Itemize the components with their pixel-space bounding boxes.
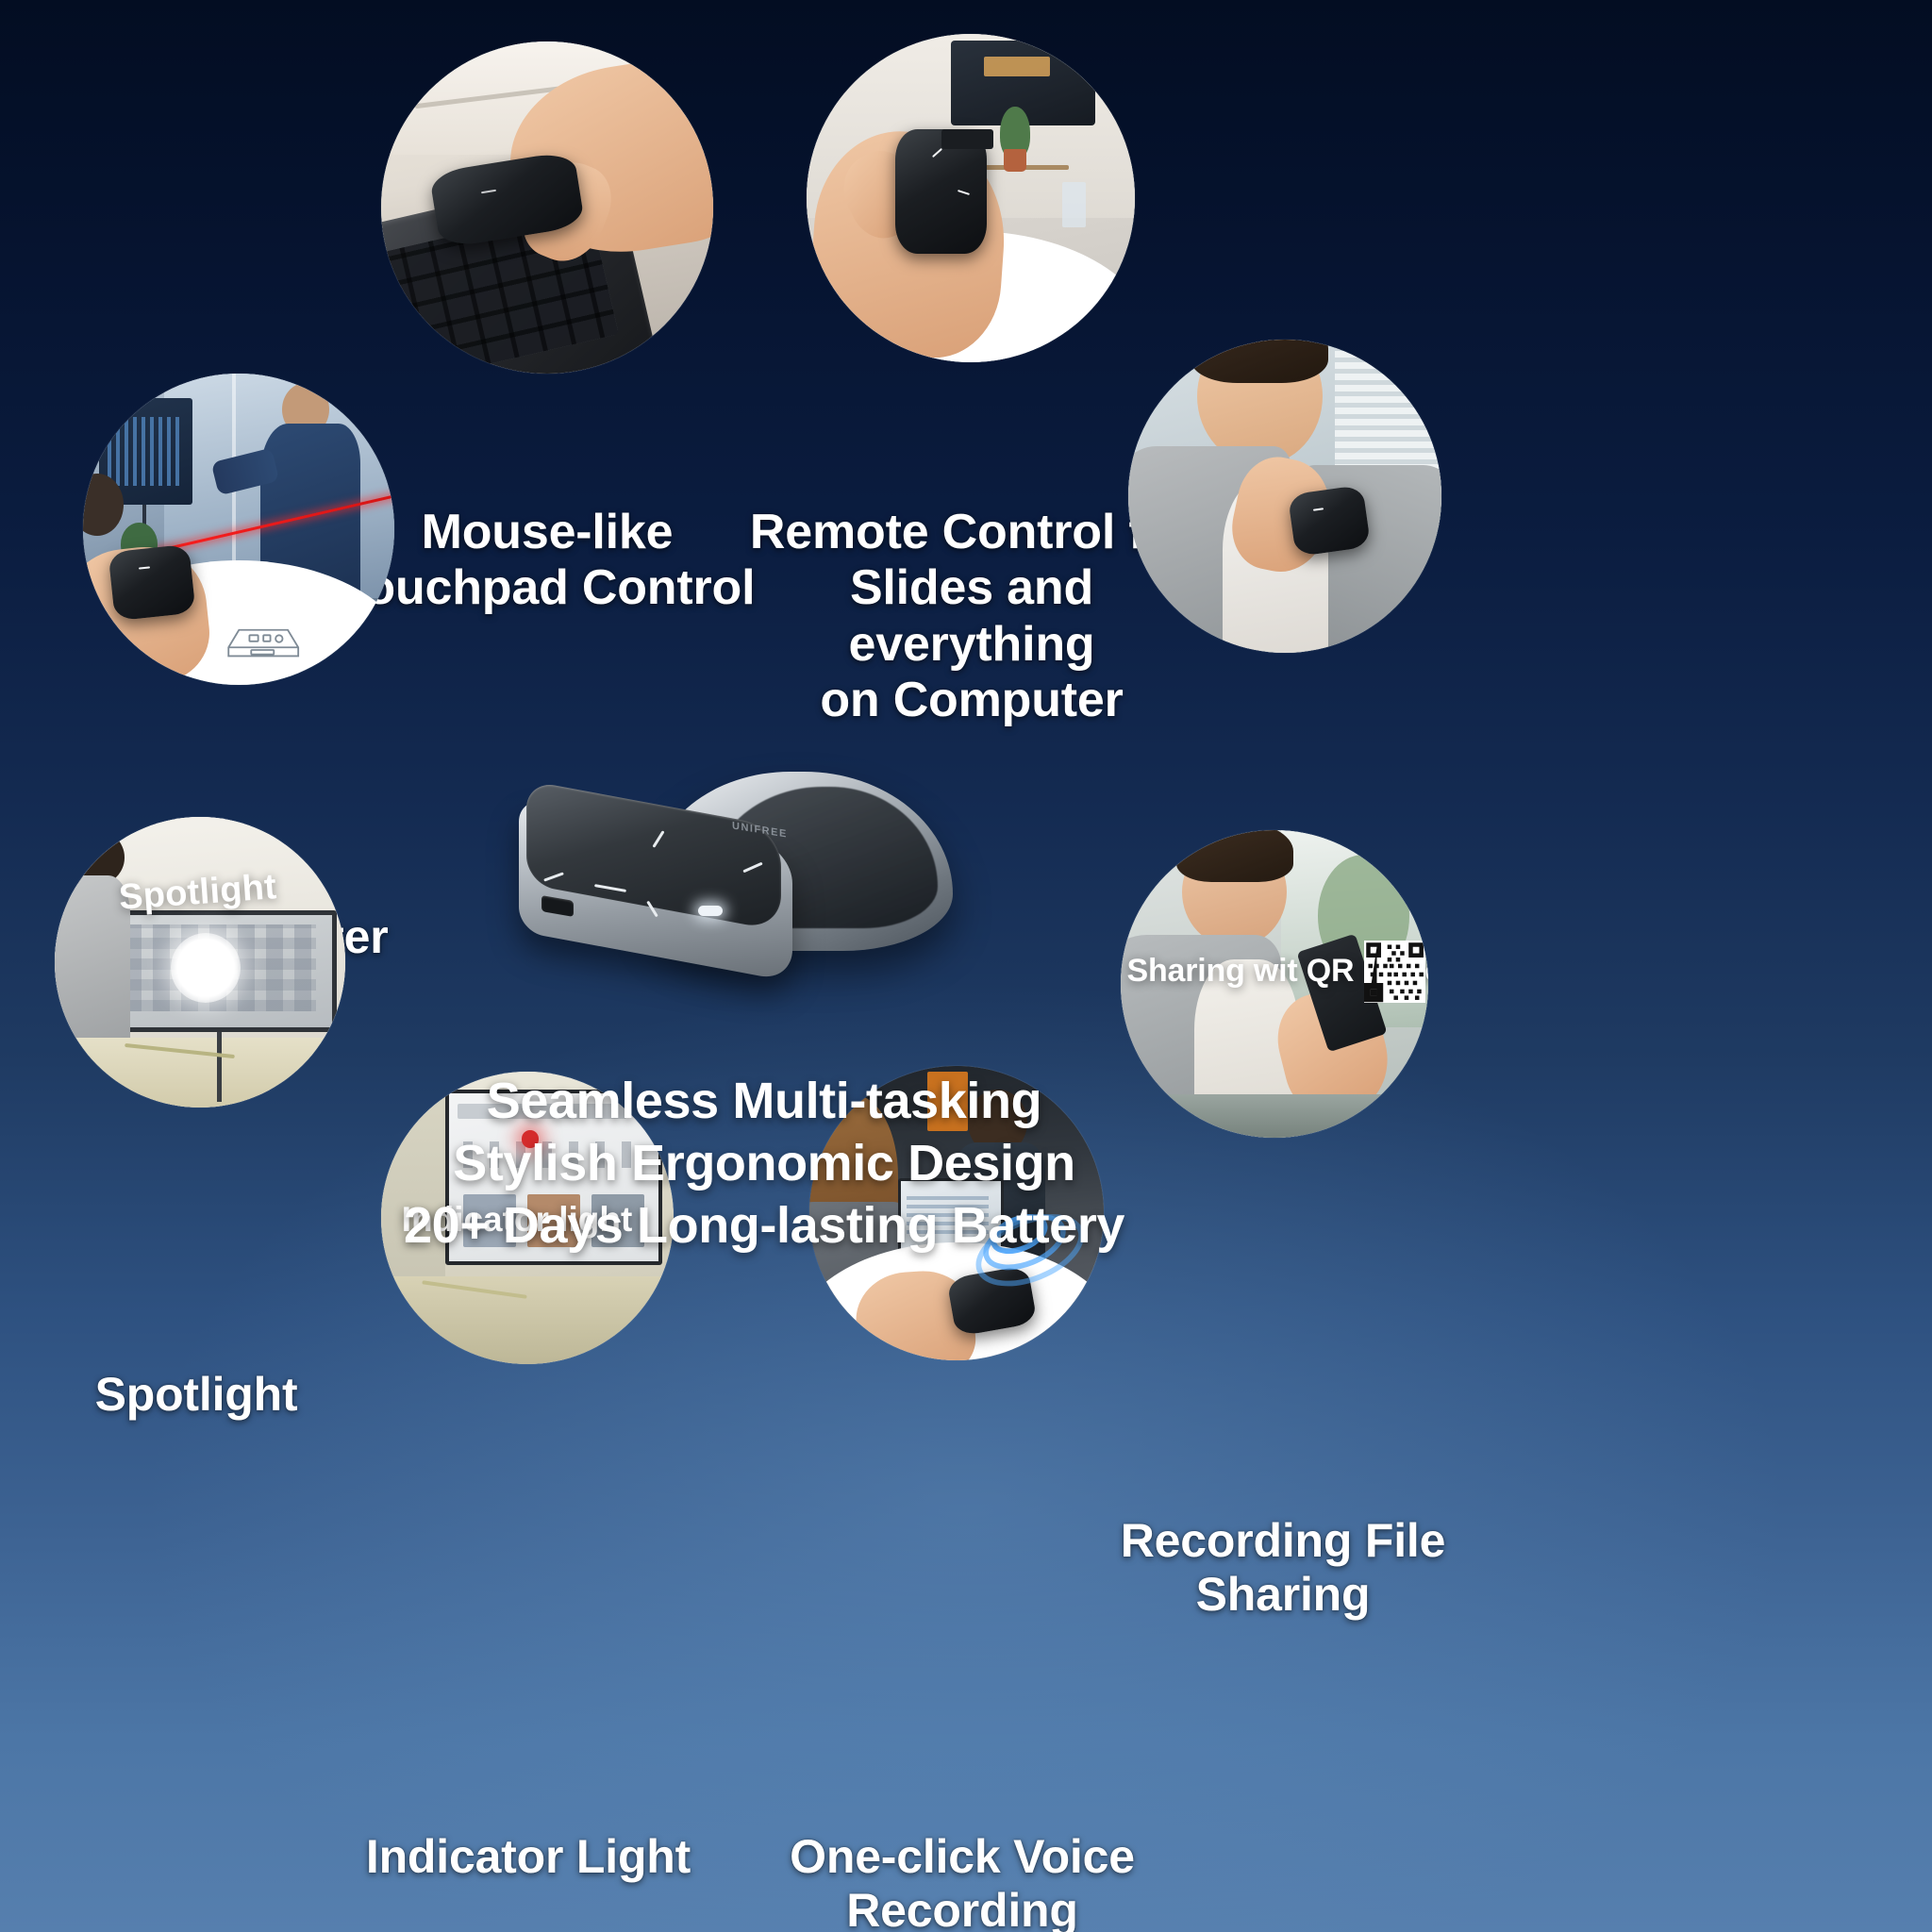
- floor-strip: [381, 1276, 674, 1364]
- presenter-device: [108, 544, 195, 621]
- caption-one-click-voice-recording: One-click Voice Recording: [698, 1830, 1226, 1932]
- detached-module: [1287, 485, 1370, 558]
- feature-tile-mouse-like-touchpad-control[interactable]: [381, 42, 713, 374]
- person-hair: [1176, 830, 1293, 882]
- glass: [1062, 182, 1085, 228]
- photo-mouse-like-touchpad-control: [381, 42, 713, 374]
- floor-strip: [55, 1038, 345, 1108]
- person-hair: [1191, 340, 1328, 383]
- display-content: [984, 57, 1050, 76]
- photo-laser-pointer: [83, 374, 394, 685]
- feature-tile-spotlight[interactable]: Spotlight: [55, 817, 345, 1108]
- plant-pot: [1004, 149, 1026, 172]
- wall-shelf: [984, 165, 1069, 170]
- photo-spotlight: Spotlight: [55, 817, 345, 1108]
- status-led: [698, 906, 723, 916]
- caption-spotlight: Spotlight: [17, 1368, 375, 1422]
- webcam-bar: [941, 129, 994, 149]
- hero-product-image: UNIFREE: [509, 755, 981, 981]
- projector-line-drawing: [220, 608, 307, 670]
- caption-indicator-light: Indicator Light: [330, 1830, 726, 1884]
- screen-chart: [108, 417, 179, 486]
- feature-tile-remote-control-slides[interactable]: [807, 34, 1135, 362]
- infographic-canvas: Mouse-like Touchpad Control Remote Contr…: [0, 0, 1932, 1932]
- display-stand: [217, 1032, 222, 1102]
- photo-remote-control-slides: [807, 34, 1135, 362]
- feature-tile-laser-pointer[interactable]: [83, 374, 394, 685]
- spotlight-highlight: [171, 933, 241, 1003]
- qr-code-icon: [1364, 941, 1425, 1002]
- photo-detachable-lightweight-portable: [1128, 340, 1441, 653]
- center-tagline: Seamless Multi-tasking Stylish Ergonomic…: [358, 1071, 1170, 1257]
- caption-recording-file-sharing: Recording File Sharing: [1047, 1514, 1519, 1622]
- feature-tile-detachable-lightweight-portable[interactable]: [1128, 340, 1441, 653]
